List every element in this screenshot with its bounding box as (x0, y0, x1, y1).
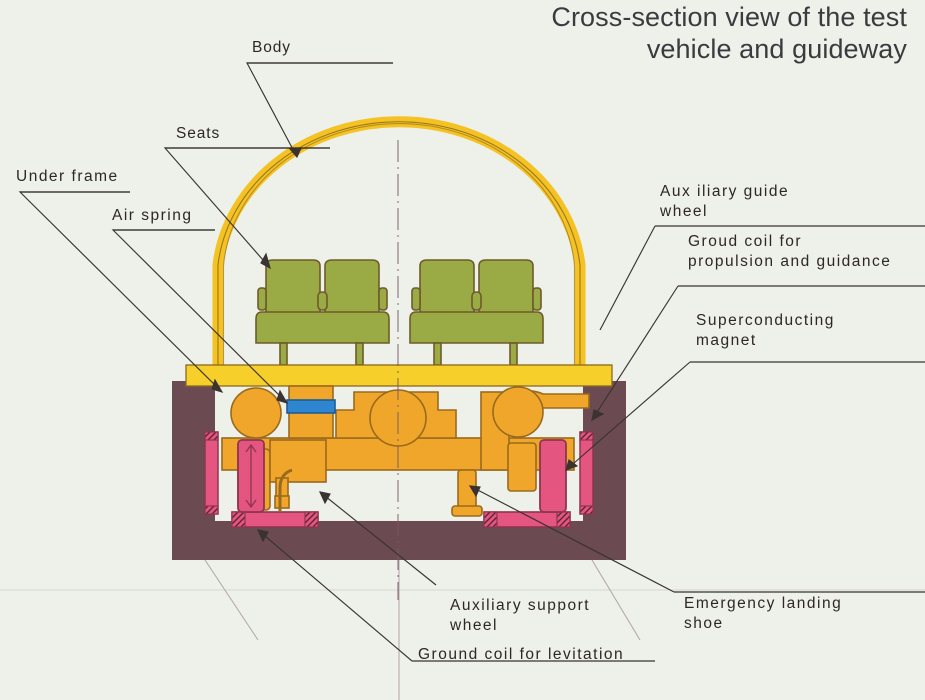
label-auxiliary-guide-wheel: Aux iliary guide wheel (660, 182, 789, 222)
label-superconducting-magnet: Superconducting magnet (696, 311, 835, 351)
seat-group-right (410, 260, 543, 365)
title-line-2: vehicle and guideway (437, 34, 907, 66)
title-line-1: Cross-section view of the test (437, 2, 907, 34)
label-auxiliary-support-wheel: Auxiliary support wheel (450, 596, 590, 636)
label-seats: Seats (176, 124, 220, 144)
auxiliary-guide-wheel-right (493, 387, 543, 437)
figure-title: Cross-section view of the test vehicle a… (437, 2, 907, 65)
bogie-assembly (222, 386, 589, 516)
label-under-frame: Under frame (16, 167, 119, 187)
seat-group-left (256, 260, 389, 365)
auxiliary-guide-wheel-left (231, 388, 281, 438)
leader-lines (20, 63, 925, 661)
air-spring-element (287, 400, 335, 413)
under-frame (186, 365, 612, 386)
label-emergency-landing-shoe: Emergency landing shoe (684, 594, 842, 634)
label-ground-coil-levitation: Ground coil for levitation (418, 645, 624, 665)
label-air-spring: Air spring (112, 206, 192, 226)
label-body: Body (252, 38, 291, 58)
label-ground-coil-propulsion: Groud coil for propulsion and guidance (688, 232, 891, 272)
